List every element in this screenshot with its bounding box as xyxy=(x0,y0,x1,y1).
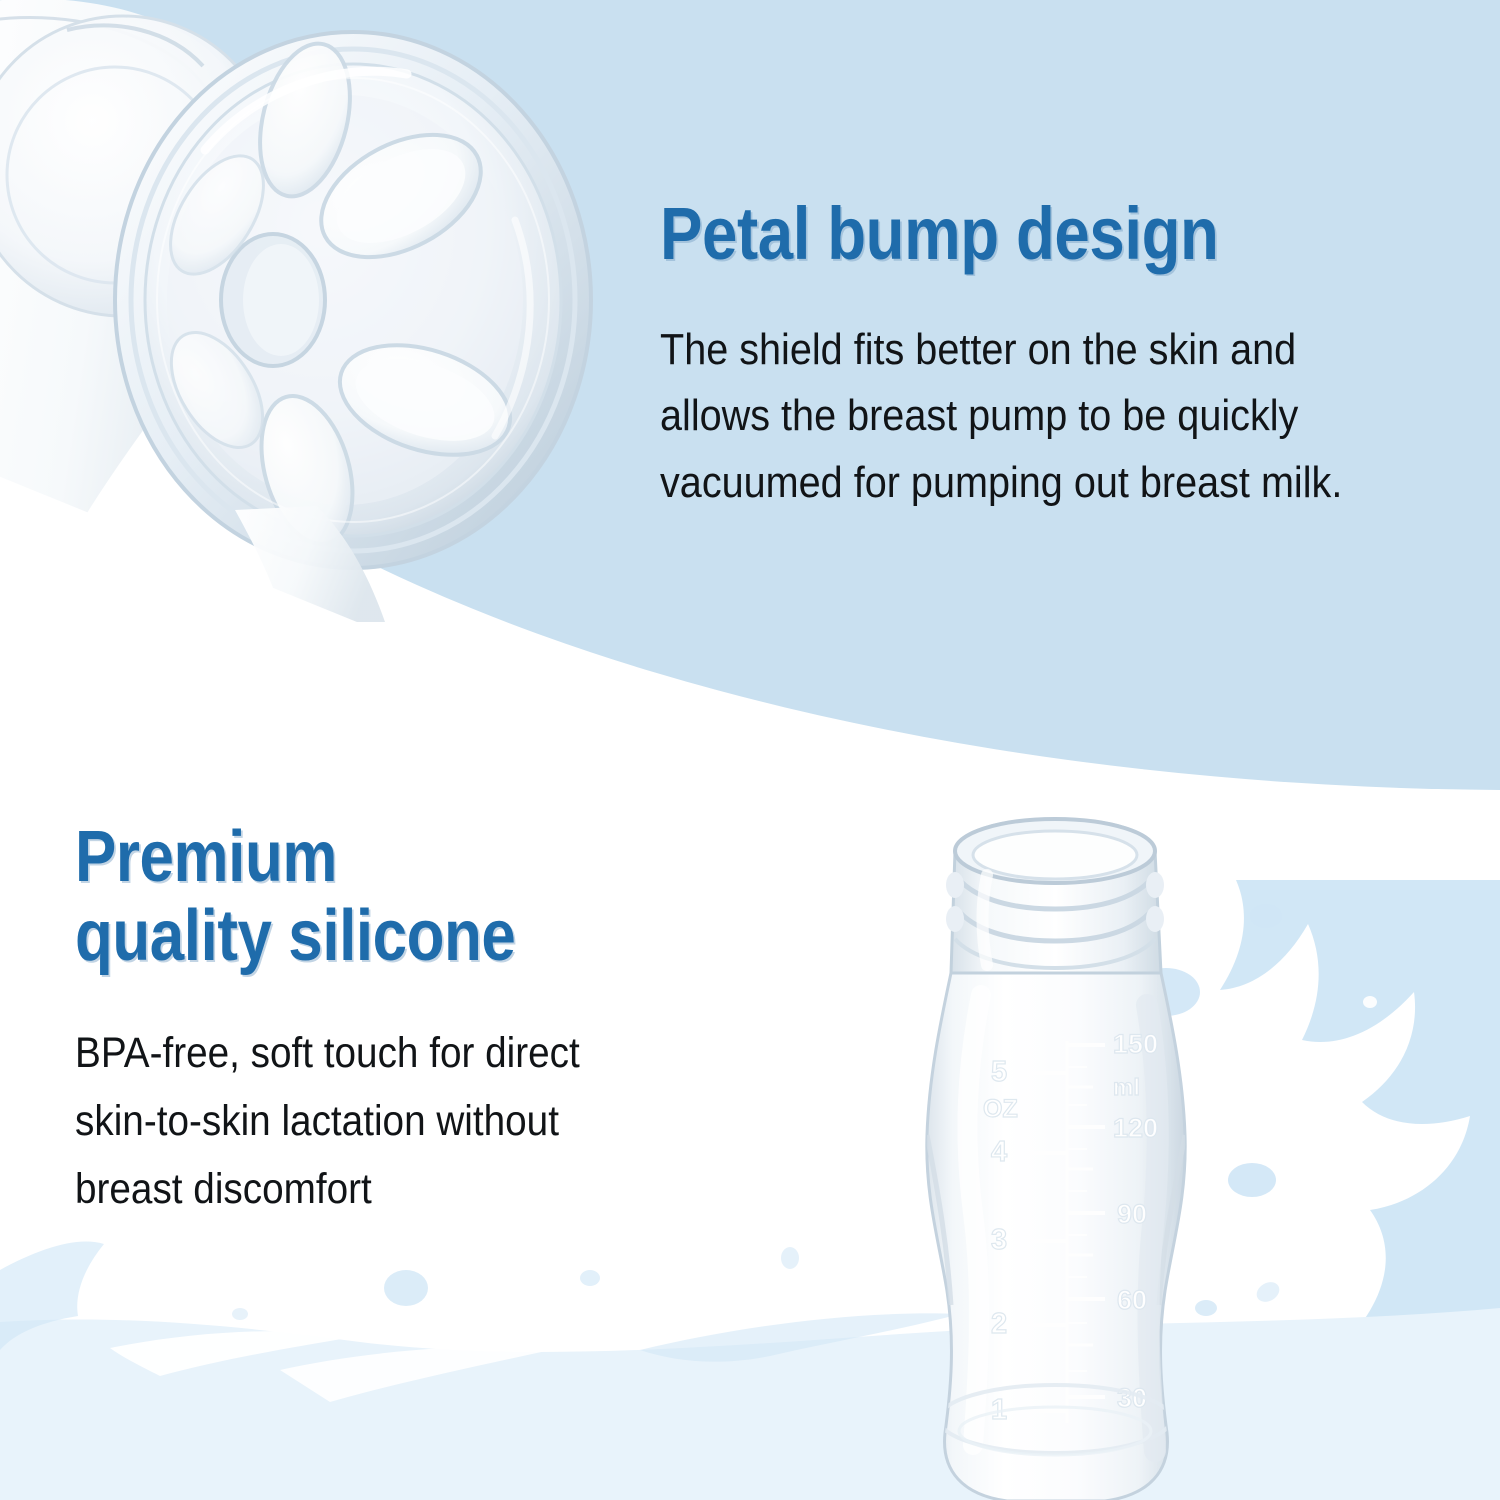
ml-mark: 90 xyxy=(1117,1199,1147,1229)
body-line: breast discomfort xyxy=(75,1156,705,1224)
body-line: vacuumed for pumping out breast milk. xyxy=(660,450,1380,517)
milk-splash-bottom xyxy=(0,1230,1500,1500)
infographic-canvas: Petal bump design The shield fits better… xyxy=(0,0,1500,1500)
body-line: The shield fits better on the skin and xyxy=(660,317,1380,384)
oz-unit-label: OZ xyxy=(983,1095,1018,1123)
oz-mark: 3 xyxy=(991,1224,1007,1256)
oz-mark: 5 xyxy=(991,1056,1007,1088)
ml-mark: 120 xyxy=(1113,1113,1158,1143)
ml-mark: 150 xyxy=(1113,1029,1158,1059)
ml-mark: 60 xyxy=(1117,1285,1147,1315)
feature-heading-petal-bump: Petal bump design xyxy=(660,198,1348,271)
heading-line: Premium xyxy=(75,818,677,897)
heading-line: quality silicone xyxy=(75,897,677,976)
ml-unit-label: ml xyxy=(1113,1074,1140,1100)
feature-block-premium-silicone: Premium quality silicone BPA-free, soft … xyxy=(75,818,775,1224)
bottle-neck xyxy=(946,819,1164,973)
splash-wave-band xyxy=(0,1308,1500,1500)
feature-body-petal-bump: The shield fits better on the skin and a… xyxy=(660,317,1380,518)
feature-body-premium-silicone: BPA-free, soft touch for direct skin-to-… xyxy=(75,1020,705,1224)
shield-funnel xyxy=(115,32,591,568)
body-line: BPA-free, soft touch for direct xyxy=(75,1020,705,1088)
oz-mark: 2 xyxy=(991,1308,1007,1340)
feature-heading-premium-silicone: Premium quality silicone xyxy=(75,818,677,976)
milk-bottle-image: 150 ml 120 90 60 30 5 OZ 4 3 2 1 xyxy=(855,805,1255,1500)
feature-block-petal-bump: Petal bump design The shield fits better… xyxy=(660,198,1460,517)
oz-mark: 4 xyxy=(991,1136,1007,1168)
body-line: allows the breast pump to be quickly xyxy=(660,383,1380,450)
body-line: skin-to-skin lactation without xyxy=(75,1088,705,1156)
